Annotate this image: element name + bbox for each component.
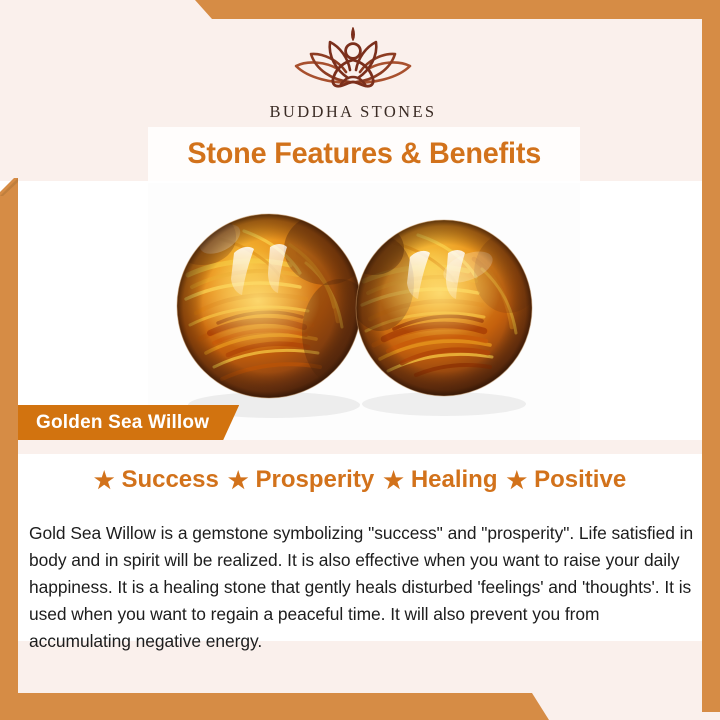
frame-border-left bbox=[0, 178, 18, 720]
brand-name: BUDDHA STONES bbox=[0, 102, 706, 122]
keyword-label: Positive bbox=[534, 466, 626, 494]
keyword-label: Success bbox=[121, 466, 218, 494]
keyword-item-healing: ★ Healing bbox=[374, 466, 497, 494]
star-icon: ★ bbox=[383, 469, 404, 492]
keyword-label: Prosperity bbox=[255, 466, 374, 494]
frame-border-bottom bbox=[0, 693, 560, 720]
keyword-label: Healing bbox=[411, 466, 498, 494]
cream-strip-middle bbox=[18, 440, 706, 454]
lotus-meditation-figure-icon bbox=[270, 26, 436, 98]
keyword-item-prosperity: ★ Prosperity bbox=[219, 466, 374, 494]
star-icon: ★ bbox=[94, 469, 115, 492]
page-title: Stone Features & Benefits bbox=[187, 137, 541, 171]
brand-block: BUDDHA STONES bbox=[0, 26, 706, 122]
keyword-item-success: ★ Success bbox=[94, 466, 219, 494]
description-text: Gold Sea Willow is a gemstone symbolizin… bbox=[29, 520, 699, 655]
star-icon: ★ bbox=[228, 469, 249, 492]
star-icon: ★ bbox=[507, 469, 528, 492]
product-name-label: Golden Sea Willow bbox=[36, 412, 209, 434]
keyword-list: ★ Success ★ Prosperity ★ Healing ★ Posit… bbox=[18, 466, 702, 494]
keyword-item-positive: ★ Positive bbox=[498, 466, 627, 494]
golden-sea-willow-spheres-image bbox=[148, 183, 580, 440]
frame-border-right bbox=[702, 0, 720, 712]
poster-canvas: BUDDHA STONES Stone Features & Benefits bbox=[0, 0, 720, 720]
product-name-badge: Golden Sea Willow bbox=[18, 405, 239, 440]
title-panel: Stone Features & Benefits bbox=[148, 127, 580, 181]
product-photo bbox=[148, 183, 580, 440]
